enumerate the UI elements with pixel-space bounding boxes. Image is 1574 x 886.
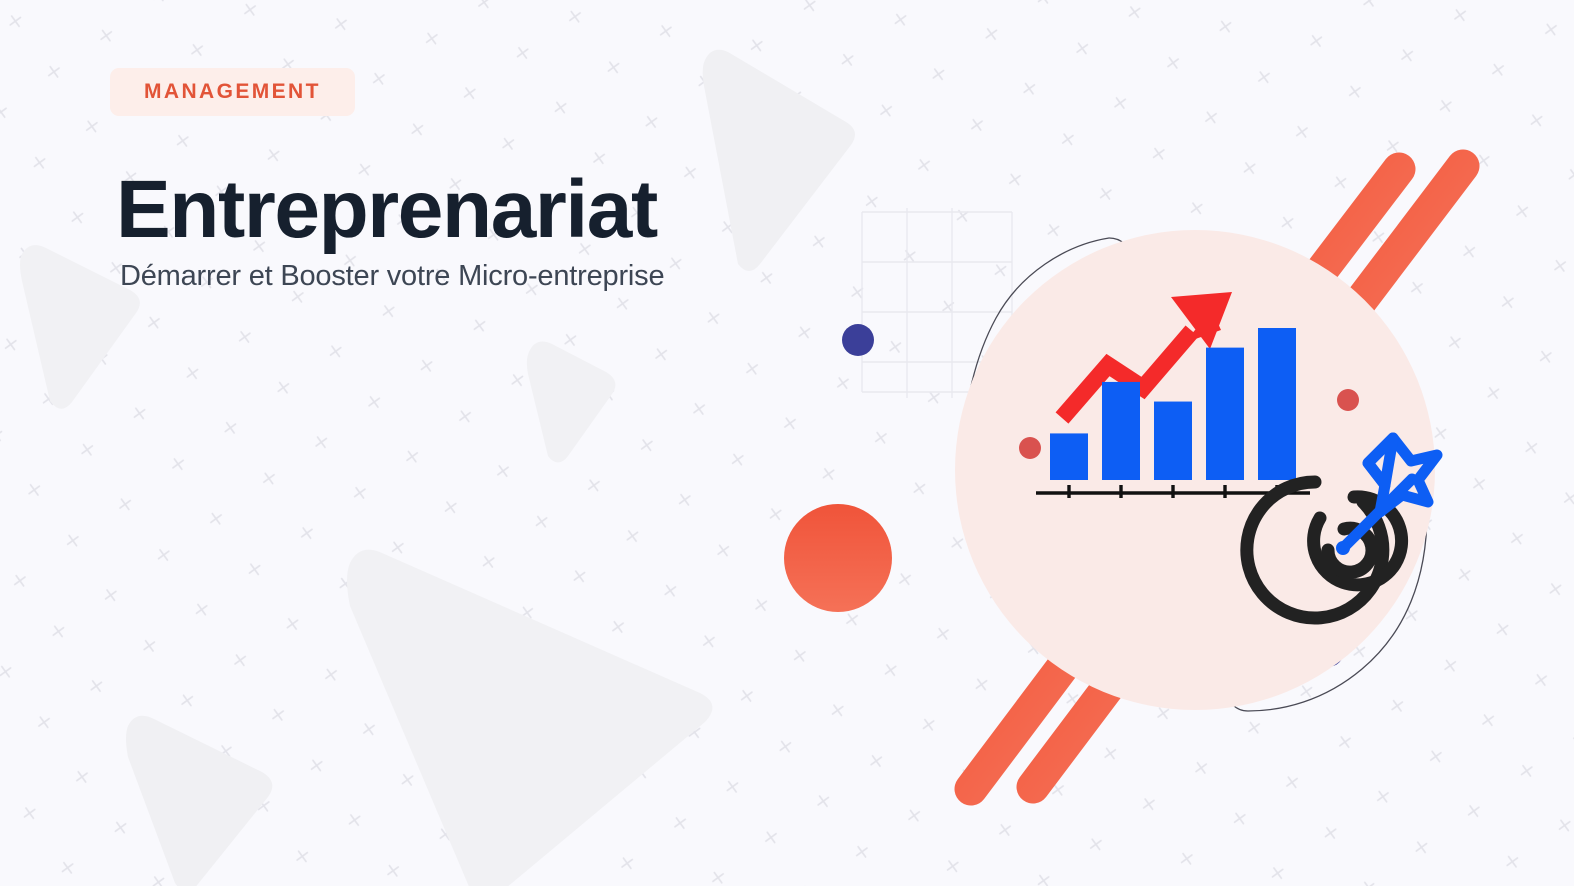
headline-block: MANAGEMENT Entreprenariat Démarrer et Bo… <box>110 68 870 293</box>
dart-tip <box>1336 541 1350 555</box>
bar-5 <box>1258 328 1296 480</box>
bar-3 <box>1154 402 1192 480</box>
page-title: Entreprenariat <box>116 168 870 252</box>
poster-canvas: MANAGEMENT Entreprenariat Démarrer et Bo… <box>0 0 1574 886</box>
bar-1 <box>1050 433 1088 480</box>
page-subtitle: Démarrer et Booster votre Micro-entrepri… <box>120 260 870 293</box>
bar-2 <box>1102 382 1140 480</box>
triangle-large-center <box>347 550 712 886</box>
triangle-bottom-left <box>126 716 272 886</box>
business-growth-illustration <box>840 150 1574 820</box>
bar-4 <box>1206 348 1244 480</box>
muted-red-dot-right <box>1337 389 1359 411</box>
triangle-small-left <box>527 342 616 463</box>
category-badge[interactable]: MANAGEMENT <box>110 68 355 116</box>
muted-red-dot-left <box>1019 437 1041 459</box>
